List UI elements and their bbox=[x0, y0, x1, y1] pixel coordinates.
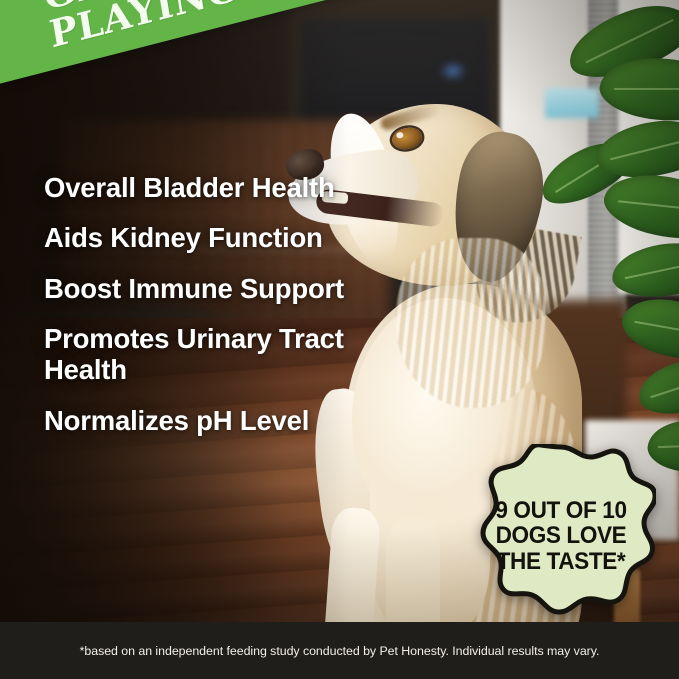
benefit-item: Overall Bladder Health bbox=[44, 172, 374, 203]
benefit-item: Normalizes pH Level bbox=[44, 405, 374, 436]
benefit-list: Overall Bladder Health Aids Kidney Funct… bbox=[44, 172, 374, 436]
disclaimer-text: *based on an independent feeding study c… bbox=[80, 644, 600, 658]
taste-claim-badge: 9 OUT OF 10 DOGS LOVE THE TASTE* bbox=[466, 444, 656, 628]
benefit-item: Aids Kidney Function bbox=[44, 222, 374, 253]
marketing-image: GET BACK TO PLAYING! Overall Bladder Hea… bbox=[0, 0, 679, 679]
badge-text: 9 OUT OF 10 DOGS LOVE THE TASTE* bbox=[472, 444, 651, 628]
footer-bar: *based on an independent feeding study c… bbox=[0, 622, 679, 679]
benefit-item: Boost Immune Support bbox=[44, 273, 374, 304]
benefit-item: Promotes Urinary Tract Health bbox=[44, 323, 374, 386]
